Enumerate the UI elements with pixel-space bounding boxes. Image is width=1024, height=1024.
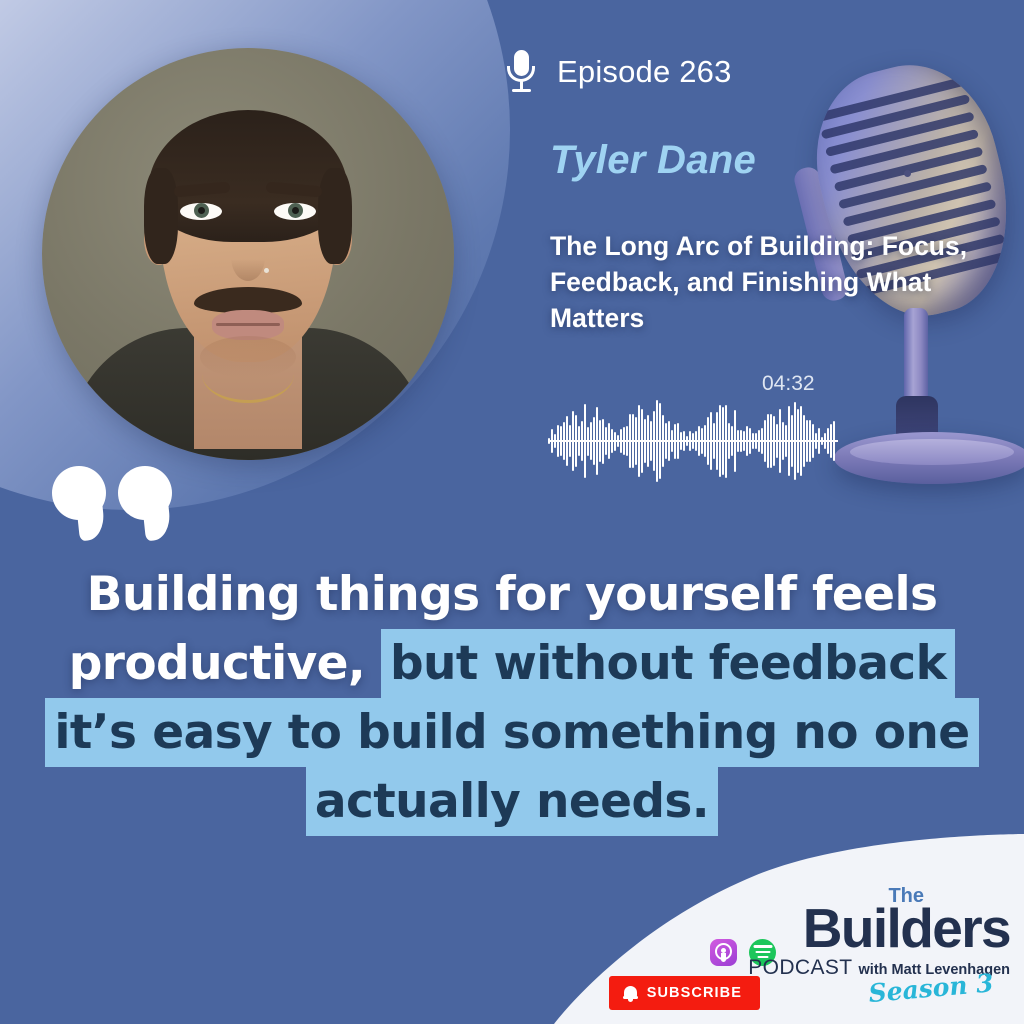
- microphone-icon: [505, 50, 537, 94]
- guest-portrait: [42, 48, 454, 460]
- episode-title: The Long Arc of Building: Focus, Feedbac…: [550, 228, 980, 336]
- pull-quote-line: it’s easy to build something no one: [0, 698, 1024, 767]
- podcast-logo: The Builders PODCAST with Matt Levenhage…: [748, 886, 1010, 1006]
- subscribe-button[interactable]: SUBSCRIBE: [609, 976, 760, 1010]
- subscribe-label: SUBSCRIBE: [647, 985, 742, 1001]
- pull-quote-line: actually needs.: [0, 767, 1024, 836]
- guest-name: Tyler Dane: [550, 138, 756, 183]
- episode-row: Episode 263: [505, 50, 732, 94]
- waveform-baseline: [548, 440, 838, 442]
- apple-podcasts-icon[interactable]: [710, 939, 737, 966]
- pull-quote-line: Building things for yourself feels: [0, 560, 1024, 629]
- pull-quote-line: productive, but without feedback: [0, 629, 1024, 698]
- brand-builders: Builders: [748, 901, 1010, 956]
- mic-screw: [904, 170, 911, 177]
- mic-base: [834, 432, 1024, 484]
- timestamp: 04:32: [762, 372, 815, 396]
- bell-icon: [623, 985, 638, 1001]
- pull-quote-highlight: it’s easy to build something no one: [45, 698, 978, 767]
- pull-quote: Building things for yourself feelsproduc…: [0, 560, 1024, 836]
- quotation-mark-icon: [52, 466, 174, 540]
- pull-quote-plain: productive,: [69, 636, 381, 691]
- pull-quote-plain: Building things for yourself feels: [87, 567, 938, 622]
- pull-quote-highlight: actually needs.: [306, 767, 718, 836]
- pull-quote-highlight: but without feedback: [381, 629, 955, 698]
- portrait-figure: [42, 48, 454, 460]
- episode-label: Episode 263: [557, 54, 732, 90]
- brand-podcast: PODCAST: [748, 957, 852, 978]
